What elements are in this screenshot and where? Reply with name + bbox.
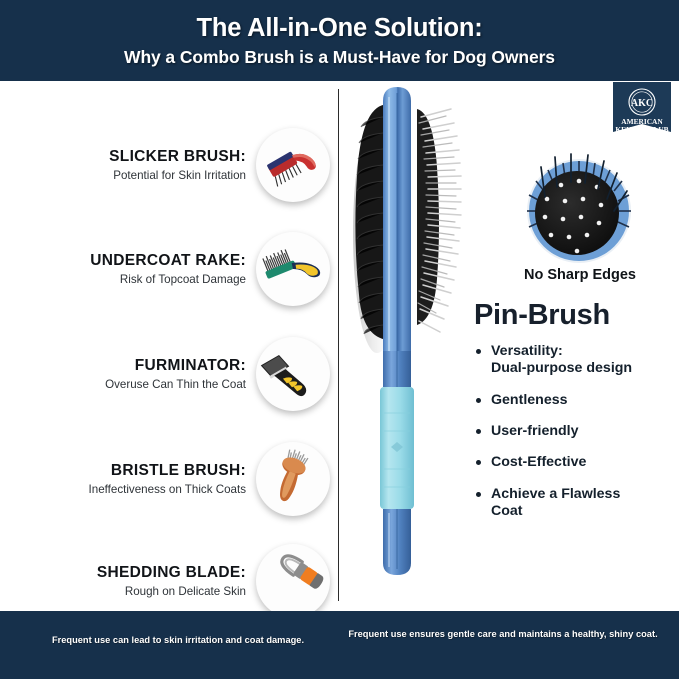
- benefits-list: Versatility: Dual-purpose design Gentlen…: [474, 343, 674, 534]
- drawback-subtitle: Ineffectiveness on Thick Coats: [0, 483, 246, 496]
- furminator-icon: [256, 337, 330, 411]
- drawback-subtitle: Overuse Can Thin the Coat: [0, 378, 246, 391]
- akc-line2: KENNEL CLUB: [615, 125, 668, 134]
- drawback-text: FURMINATOR: Overuse Can Thin the Coat: [0, 357, 256, 391]
- list-item: SLICKER BRUSH: Potential for Skin Irrita…: [0, 117, 330, 213]
- bristle-brush-icon: [256, 442, 330, 516]
- drawback-subtitle: Rough on Delicate Skin: [0, 585, 246, 598]
- list-item: Cost-Effective: [474, 454, 674, 471]
- list-item: Gentleness: [474, 392, 674, 409]
- footer-note-right: Frequent use ensures gentle care and mai…: [348, 628, 658, 641]
- drawbacks-column: SLICKER BRUSH: Potential for Skin Irrita…: [0, 81, 330, 611]
- drawback-title: FURMINATOR:: [0, 357, 246, 375]
- drawback-text: SLICKER BRUSH: Potential for Skin Irrita…: [0, 148, 256, 182]
- poster-title: The All-in-One Solution:: [196, 14, 482, 43]
- list-item: BRISTLE BRUSH: Ineffectiveness on Thick …: [0, 431, 330, 527]
- combo-pin-brush-photo: [347, 83, 479, 583]
- drawback-text: UNDERCOAT RAKE: Risk of Topcoat Damage: [0, 252, 256, 286]
- list-item: Versatility: Dual-purpose design: [474, 343, 674, 378]
- no-sharp-edges-label: No Sharp Edges: [501, 267, 659, 283]
- product-title: Pin-Brush: [474, 299, 610, 332]
- drawback-title: BRISTLE BRUSH:: [0, 462, 246, 480]
- list-item: UNDERCOAT RAKE: Risk of Topcoat Damage: [0, 221, 330, 317]
- list-item: Achieve a Flawless Coat: [474, 486, 674, 521]
- drawback-title: SLICKER BRUSH:: [0, 148, 246, 166]
- benefits-column: No Sharp Edges Pin-Brush Versatility: Du…: [339, 81, 679, 611]
- drawback-subtitle: Risk of Topcoat Damage: [0, 273, 246, 286]
- drawback-text: SHEDDING BLADE: Rough on Delicate Skin: [0, 564, 256, 598]
- drawback-title: SHEDDING BLADE:: [0, 564, 246, 582]
- list-item: User-friendly: [474, 423, 674, 440]
- poster-body: SLICKER BRUSH: Potential for Skin Irrita…: [0, 81, 679, 611]
- poster-subtitle: Why a Combo Brush is a Must-Have for Dog…: [124, 47, 555, 67]
- undercoat-rake-icon: [256, 232, 330, 306]
- drawback-text: BRISTLE BRUSH: Ineffectiveness on Thick …: [0, 462, 256, 496]
- akc-monogram: AKC: [631, 98, 653, 109]
- slicker-brush-icon: [256, 128, 330, 202]
- infographic-poster: The All-in-One Solution: Why a Combo Bru…: [0, 0, 679, 679]
- american-kennel-club-logo: AKC AMERICAN KENNEL CLUB: [613, 82, 671, 140]
- footer-note-left: Frequent use can lead to skin irritation…: [22, 634, 334, 646]
- drawback-subtitle: Potential for Skin Irritation: [0, 169, 246, 182]
- poster-footer: Frequent use can lead to skin irritation…: [0, 611, 679, 679]
- shedding-blade-icon: [256, 544, 330, 618]
- drawback-title: UNDERCOAT RAKE:: [0, 252, 246, 270]
- list-item: FURMINATOR: Overuse Can Thin the Coat: [0, 326, 330, 422]
- poster-header: The All-in-One Solution: Why a Combo Bru…: [0, 0, 679, 81]
